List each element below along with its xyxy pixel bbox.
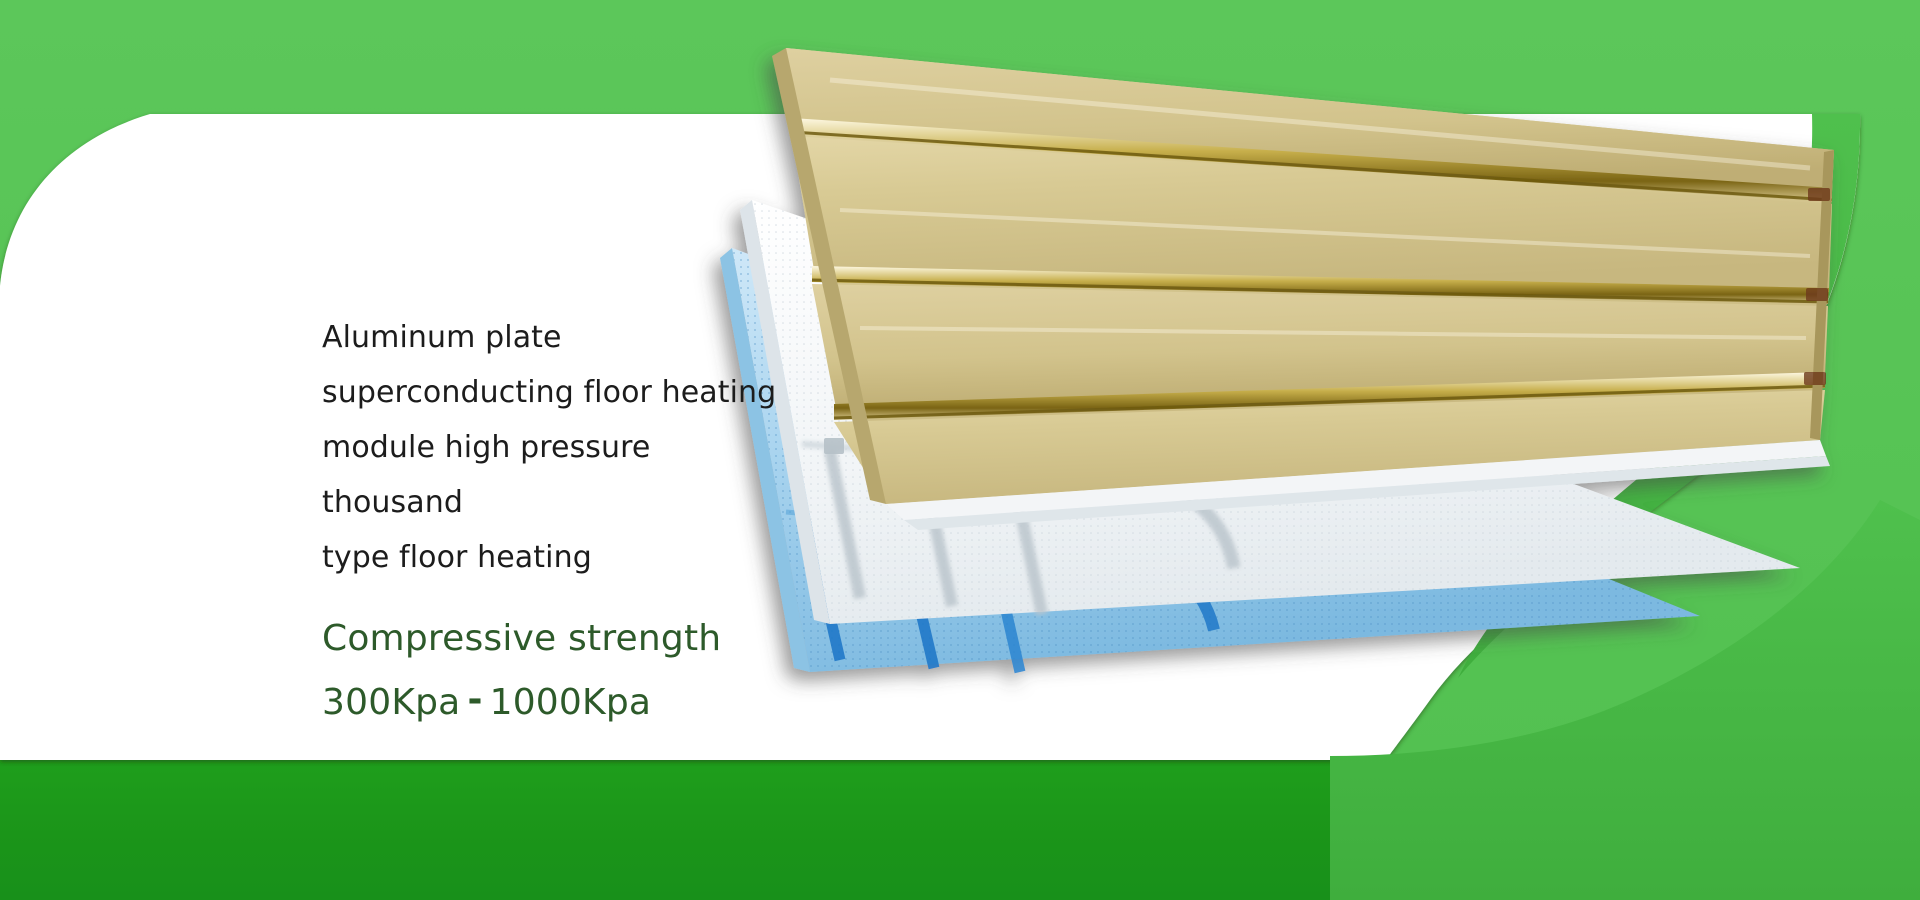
spec-title: Compressive strength [322, 618, 721, 659]
product-headline: Aluminum plate superconducting floor hea… [322, 310, 792, 585]
spec-range-dash: - [460, 679, 489, 720]
spec-max-value: 1000Kpa [490, 682, 652, 723]
spec-min-value: 300Kpa [322, 682, 460, 723]
background-graphics [0, 0, 1920, 900]
banner-text-block: Aluminum plate superconducting floor hea… [322, 310, 792, 735]
spec-range: 300Kpa-1000Kpa [322, 671, 792, 735]
promo-banner: Aluminum plate superconducting floor hea… [0, 0, 1920, 900]
spec-block: Compressive strength 300Kpa-1000Kpa [322, 607, 792, 735]
